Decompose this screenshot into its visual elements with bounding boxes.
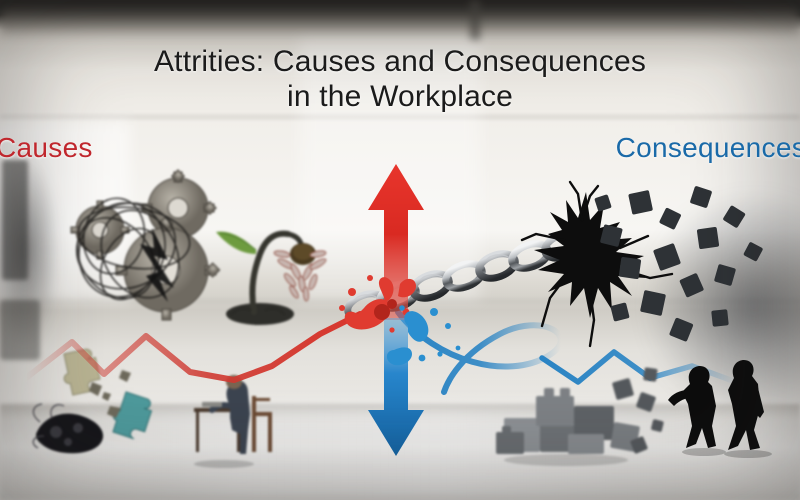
- title-line-1: Attrities: Causes and Consequences: [154, 45, 646, 78]
- title-line-2: in the Workplace: [0, 79, 800, 114]
- page-title: Attrities: Causes and Consequences in th…: [0, 44, 800, 114]
- label-causes: Causes: [0, 132, 93, 164]
- infographic-banner: Attrities: Causes and Consequences in th…: [0, 0, 800, 500]
- label-consequences: Consequences: [616, 132, 800, 164]
